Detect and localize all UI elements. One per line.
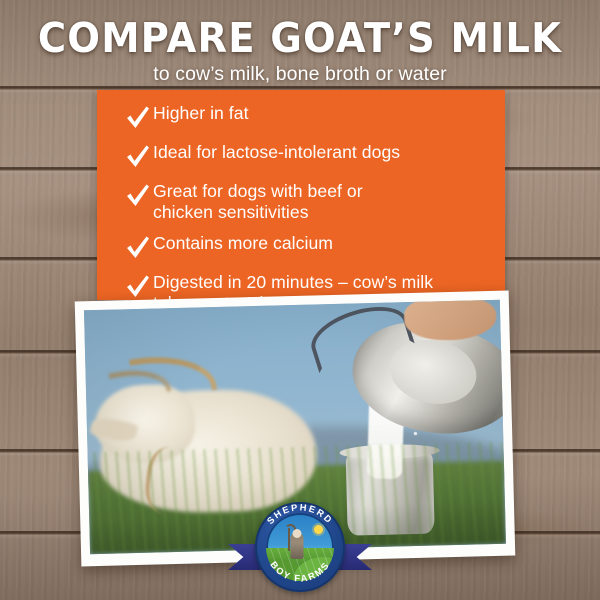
shepherd-head <box>293 529 302 538</box>
benefits-panel: Higher in fat Ideal for lactose-intolera… <box>97 90 505 300</box>
check-mark-icon <box>123 232 153 262</box>
page-subtitle: to cow’s milk, bone broth or water <box>0 63 600 86</box>
list-item-label: Higher in fat <box>153 99 249 124</box>
check-mark-icon <box>123 102 153 132</box>
infographic-poster: COMPARE GOAT’S MILK to cow’s milk, bone … <box>0 0 600 600</box>
logo-badge: SHEPHERD BOY FARMS <box>255 502 345 592</box>
list-item-label: Great for dogs with beef or chicken sens… <box>153 177 363 223</box>
list-item: Higher in fat <box>123 99 493 132</box>
check-mark-icon <box>123 180 153 210</box>
sun-icon <box>314 525 323 534</box>
check-mark-icon <box>123 141 153 171</box>
list-item-label: Contains more calcium <box>153 229 333 254</box>
check-mark-icon <box>123 271 153 301</box>
brand-logo: SHEPHERD BOY FARMS <box>232 502 368 594</box>
logo-scene <box>266 513 334 581</box>
list-item: Contains more calcium <box>123 229 493 262</box>
list-item: Great for dogs with beef or chicken sens… <box>123 177 493 223</box>
page-title: COMPARE GOAT’S MILK <box>18 18 582 59</box>
benefits-list: Higher in fat Ideal for lactose-intolera… <box>123 99 493 320</box>
list-item: Ideal for lactose-intolerant dogs <box>123 138 493 171</box>
list-item-label: Ideal for lactose-intolerant dogs <box>153 138 400 163</box>
